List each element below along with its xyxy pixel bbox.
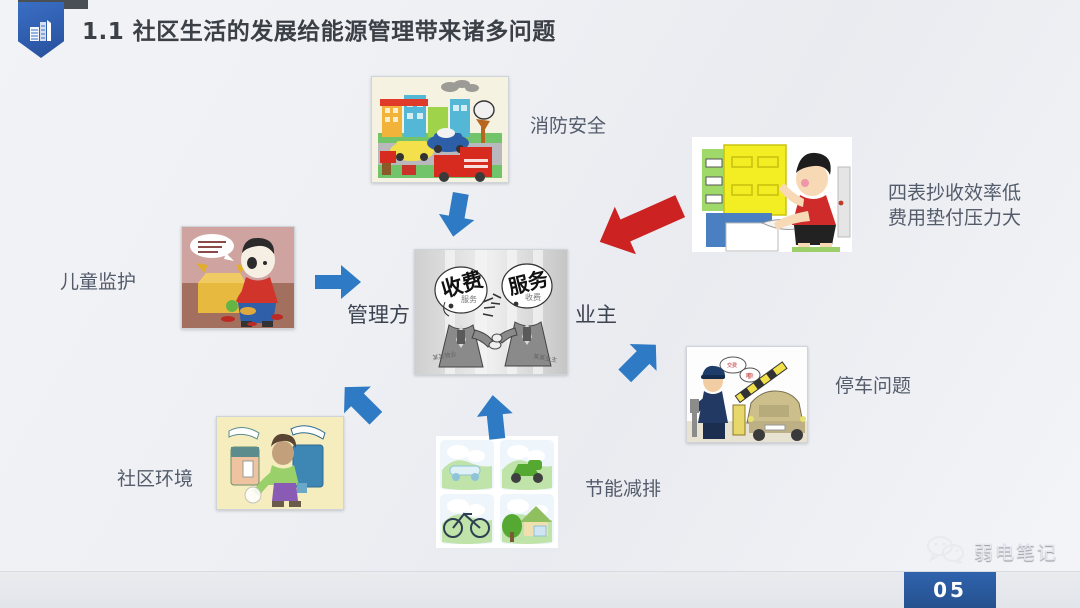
arrow-child-care: [315, 262, 363, 302]
child-care-image: [181, 226, 295, 329]
building-chart-icon: [27, 16, 55, 44]
arrow-community-env: [337, 378, 385, 426]
arrow-energy-saving: [475, 393, 515, 441]
page-number: 05: [933, 578, 967, 602]
label-owner-side: 业主: [575, 303, 617, 328]
badge-shield: [18, 2, 64, 58]
meter-reading-image: [692, 137, 852, 252]
wechat-icon: [926, 535, 966, 568]
fire-safety-image: [371, 76, 509, 183]
watermark: 弱电笔记: [926, 535, 1058, 568]
arrow-parking: [617, 337, 665, 385]
svg-text:收费: 收费: [525, 292, 541, 302]
label-management-side: 管理方: [347, 303, 410, 328]
svg-text:嘟!: 嘟!: [746, 372, 754, 380]
label-meter-reading-line1: 四表抄收效率低: [888, 181, 1021, 206]
center-dispute-image: 收费 服务 某某物业 服务: [414, 249, 568, 375]
arrow-meter-reading: [592, 196, 688, 252]
label-energy-saving: 节能减排: [585, 477, 661, 502]
label-parking: 停车问题: [835, 374, 911, 399]
svg-text:服务: 服务: [461, 294, 477, 304]
community-env-image: [216, 416, 344, 510]
label-meter-reading: 四表抄收效率低 费用垫付压力大: [888, 181, 1021, 231]
arrow-fire-safety: [437, 193, 477, 239]
watermark-text: 弱电笔记: [974, 538, 1058, 565]
label-fire-safety: 消防安全: [530, 114, 606, 139]
energy-saving-image: [436, 436, 558, 548]
label-community-env: 社区环境: [117, 467, 193, 492]
label-child-care: 儿童监护: [60, 270, 136, 295]
page-number-box: 05: [904, 572, 996, 608]
page-title: 1.1 社区生活的发展给能源管理带来诸多问题: [82, 12, 556, 46]
svg-text:交费: 交费: [727, 362, 737, 369]
slide-canvas: 1.1 社区生活的发展给能源管理带来诸多问题: [0, 0, 1080, 608]
parking-image: 交费 嘟!: [686, 346, 808, 443]
label-meter-reading-line2: 费用垫付压力大: [888, 206, 1021, 231]
